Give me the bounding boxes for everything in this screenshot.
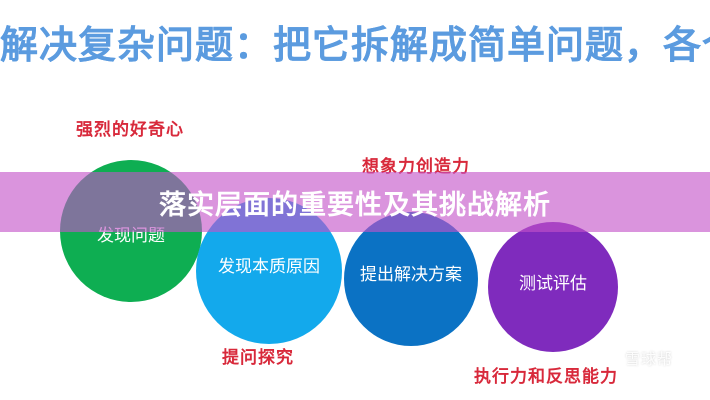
headline-title: 解决复杂问题：把它拆解成简单问题，各个击破 — [0, 26, 710, 68]
overlay-caption: 落实层面的重要性及其挑战解析 — [0, 172, 710, 232]
annotation-curiosity: 强烈的好奇心 — [76, 115, 184, 140]
annotation-inquiry: 提问探究 — [222, 343, 294, 368]
process-step-label: 测试评估 — [519, 269, 587, 294]
watermark-label: 雪球帮 — [625, 348, 673, 369]
watermark: 雪球帮 — [598, 348, 673, 369]
process-step-test-evaluate: 测试评估 — [488, 222, 618, 352]
wechat-icon — [598, 349, 620, 369]
process-step-label: 提出解决方案 — [360, 260, 462, 285]
annotation-execution-reflection: 执行力和反思能力 — [474, 362, 618, 387]
process-step-label: 发现本质原因 — [218, 252, 320, 277]
process-step-propose-solution: 提出解决方案 — [344, 212, 478, 346]
image-canvas: 解决复杂问题：把它拆解成简单问题，各个击破 解决复杂问题：把它拆解成简单问题，各… — [0, 0, 710, 400]
